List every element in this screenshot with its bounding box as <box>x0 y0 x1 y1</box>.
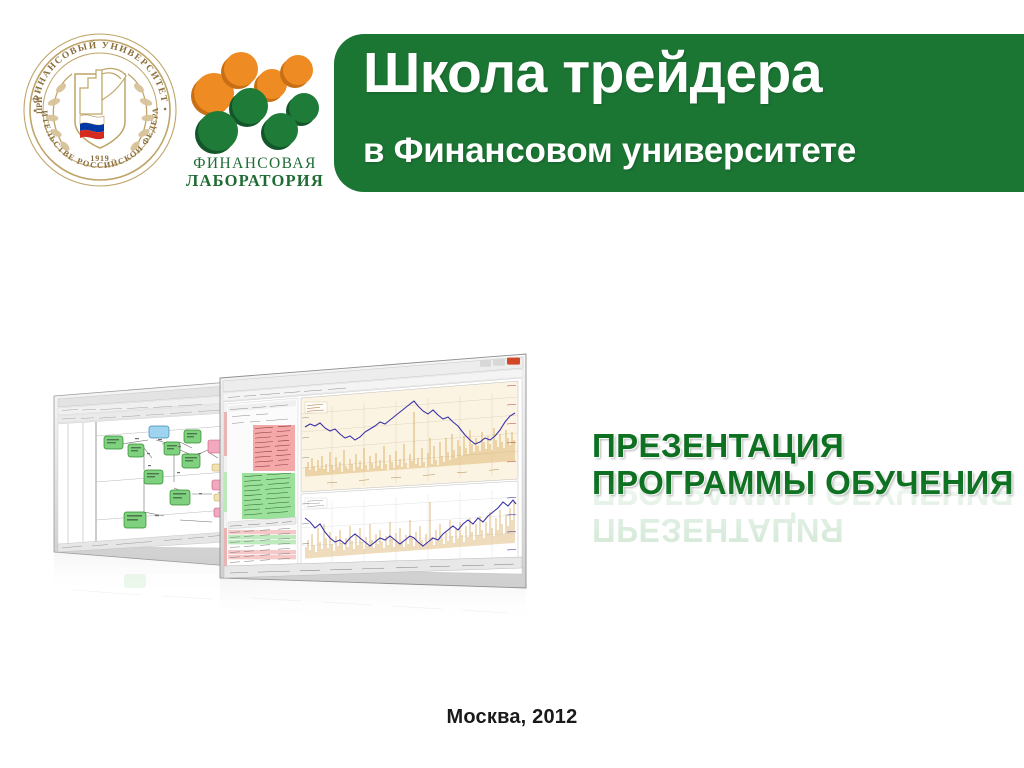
presentation-heading-line2: ПРОГРАММЫ ОБУЧЕНИЯ <box>592 465 1014 502</box>
presentation-heading-line1: ПРЕЗЕНТАЦИЯ <box>592 428 1014 465</box>
page-subtitle: в Финансовом университете <box>363 132 856 171</box>
presentation-heading: ПРЕЗЕНТАЦИЯ ПРОГРАММЫ ОБУЧЕНИЯ ПРЕЗЕНТАЦ… <box>592 428 1012 548</box>
software-screenshot-montage <box>52 352 562 652</box>
presentation-heading-line1-reflection: ПРЕЗЕНТАЦИЯ <box>592 511 1012 548</box>
presentation-slide: • ФИНАНСОВЫЙ УНИВЕРСИТЕТ • ПРАВИТЕЛЬСТВЕ… <box>0 0 1024 768</box>
montage-back-window <box>54 382 232 566</box>
svg-text:ПРИ: ПРИ <box>35 96 44 114</box>
footer-city-year: Москва, 2012 <box>0 706 1024 729</box>
university-emblem: • ФИНАНСОВЫЙ УНИВЕРСИТЕТ • ПРАВИТЕЛЬСТВЕ… <box>20 30 180 190</box>
montage-front-window <box>220 354 526 588</box>
finlab-logo-line2: ЛАБОРАТОРИЯ <box>186 171 324 190</box>
page-title: Школа трейдера <box>363 44 822 104</box>
finlab-logo-line1: ФИНАНСОВАЯ <box>193 155 316 172</box>
svg-text:1919: 1919 <box>90 154 109 163</box>
finlab-logo: ФИНАНСОВАЯ ЛАБОРАТОРИЯ <box>185 52 325 192</box>
